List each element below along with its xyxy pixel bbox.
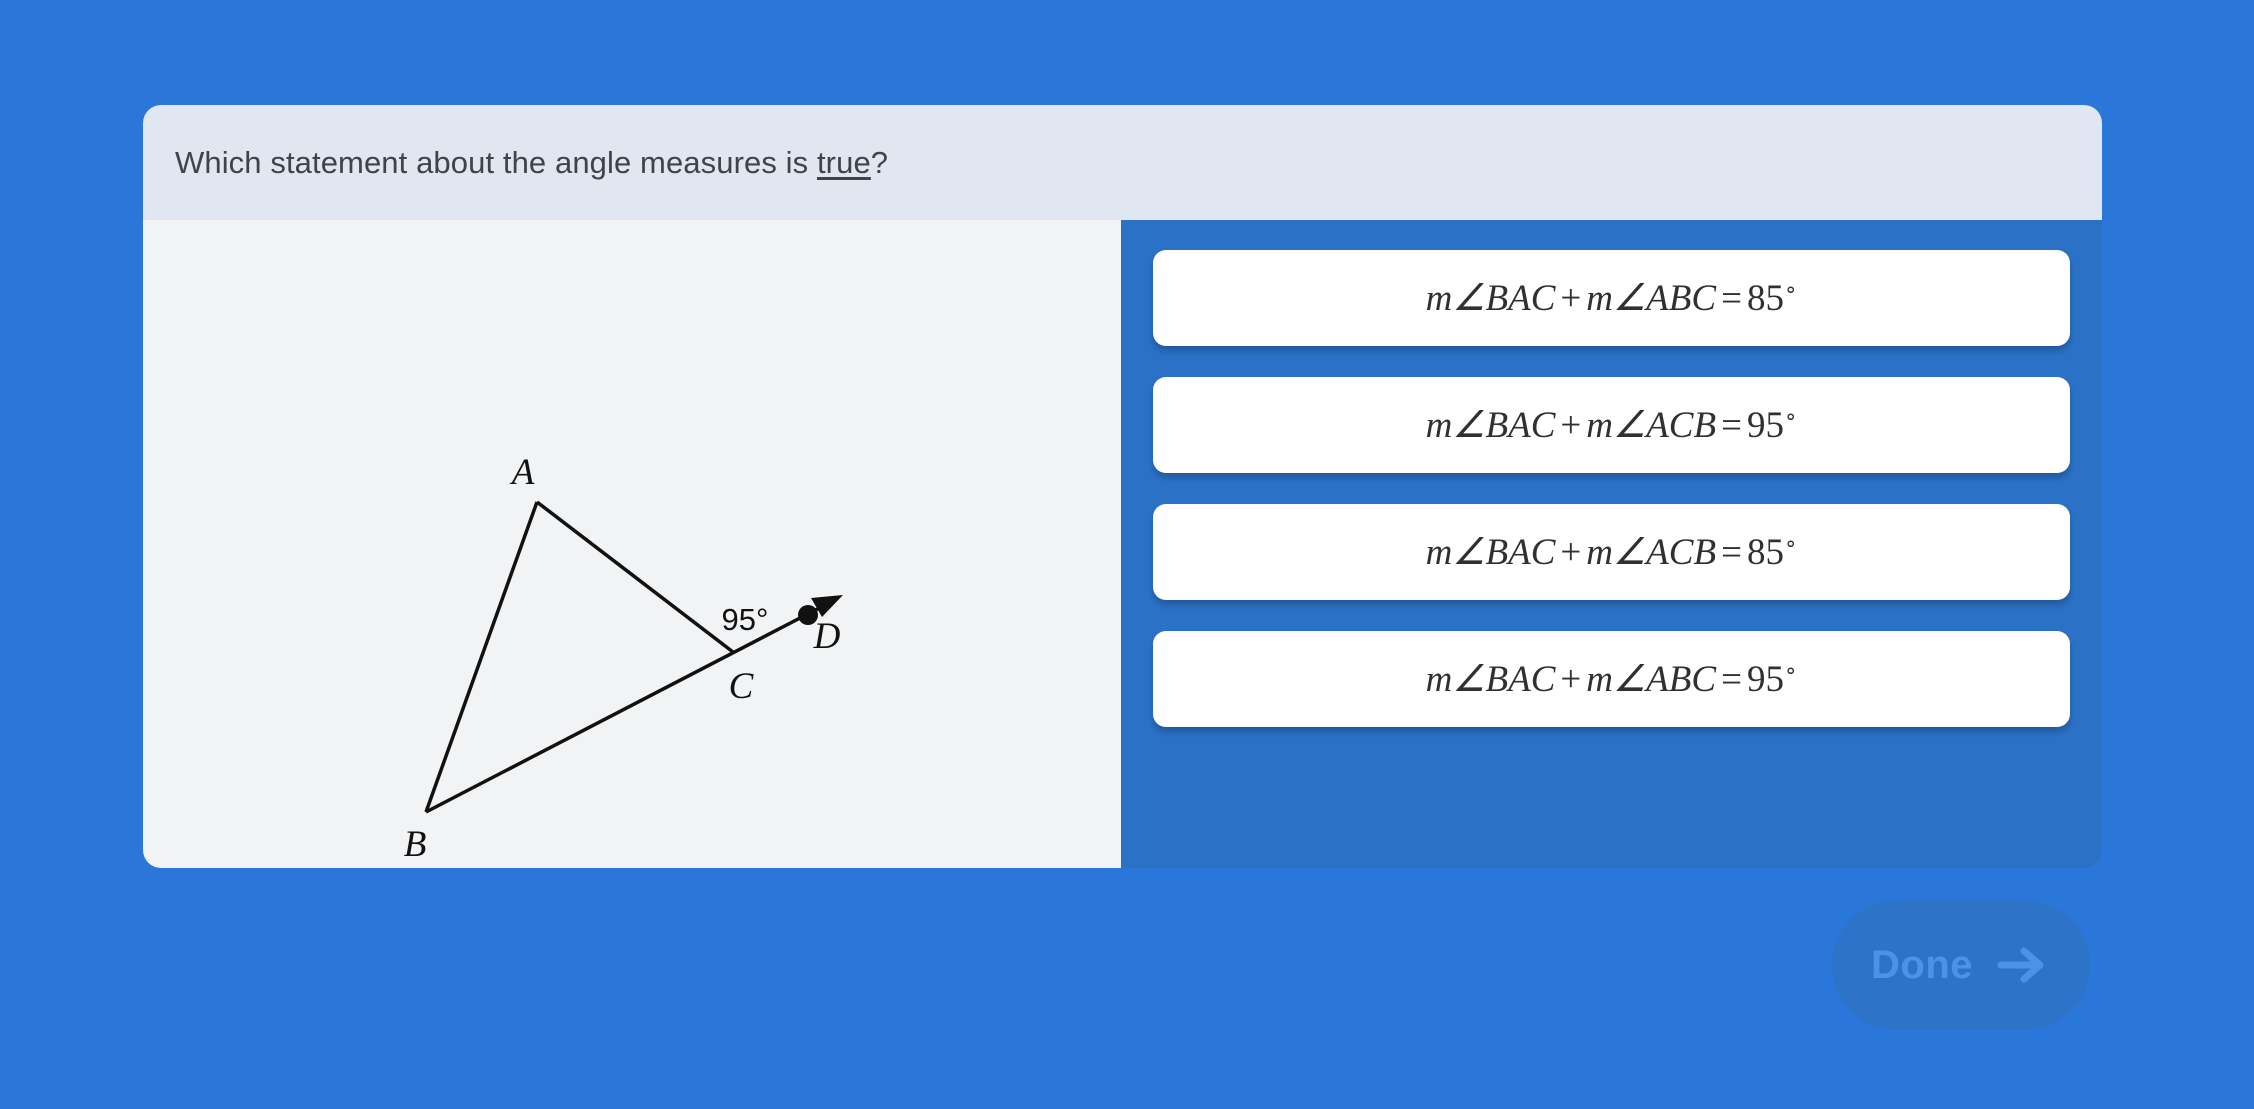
answer-option-2[interactable]: m∠BAC+m∠ACB=95∘ [1153, 377, 2070, 473]
diagram-panel: A B C D 95° [143, 220, 1121, 868]
answer-option-3[interactable]: m∠BAC+m∠ACB=85∘ [1153, 504, 2070, 600]
segment-ac [537, 502, 733, 652]
arrow-right-icon [1995, 945, 2051, 985]
question-title: Which statement about the angle measures… [175, 145, 888, 181]
label-vertex-c: C [729, 666, 755, 707]
question-emphasis: true [817, 145, 871, 180]
label-vertex-a: A [509, 452, 535, 493]
question-header: Which statement about the angle measures… [143, 105, 2102, 220]
question-body: A B C D 95° m∠BAC+m∠ABC=85∘ m∠BAC+m∠ACB=… [143, 220, 2102, 868]
question-card: Which statement about the angle measures… [143, 105, 2102, 868]
ray-bd [426, 603, 829, 812]
label-angle-acd: 95° [722, 602, 769, 637]
answer-option-4[interactable]: m∠BAC+m∠ABC=95∘ [1153, 631, 2070, 727]
answer-option-2-text: m∠BAC+m∠ACB=95∘ [1426, 403, 1798, 447]
answer-option-4-text: m∠BAC+m∠ABC=95∘ [1426, 657, 1798, 701]
answer-option-1[interactable]: m∠BAC+m∠ABC=85∘ [1153, 250, 2070, 346]
done-button-label: Done [1871, 943, 1973, 988]
label-vertex-b: B [404, 824, 427, 865]
answer-option-1-text: m∠BAC+m∠ABC=85∘ [1426, 276, 1798, 320]
question-suffix: ? [871, 145, 888, 180]
question-prefix: Which statement about the angle measures… [175, 145, 817, 180]
answer-options-panel: m∠BAC+m∠ABC=85∘ m∠BAC+m∠ACB=95∘ m∠BAC+m∠… [1121, 220, 2102, 868]
done-button[interactable]: Done [1832, 900, 2090, 1030]
answer-option-3-text: m∠BAC+m∠ACB=85∘ [1426, 530, 1798, 574]
label-vertex-d: D [813, 616, 841, 657]
geometry-figure: A B C D 95° [143, 220, 1121, 868]
segment-ab [426, 502, 537, 812]
